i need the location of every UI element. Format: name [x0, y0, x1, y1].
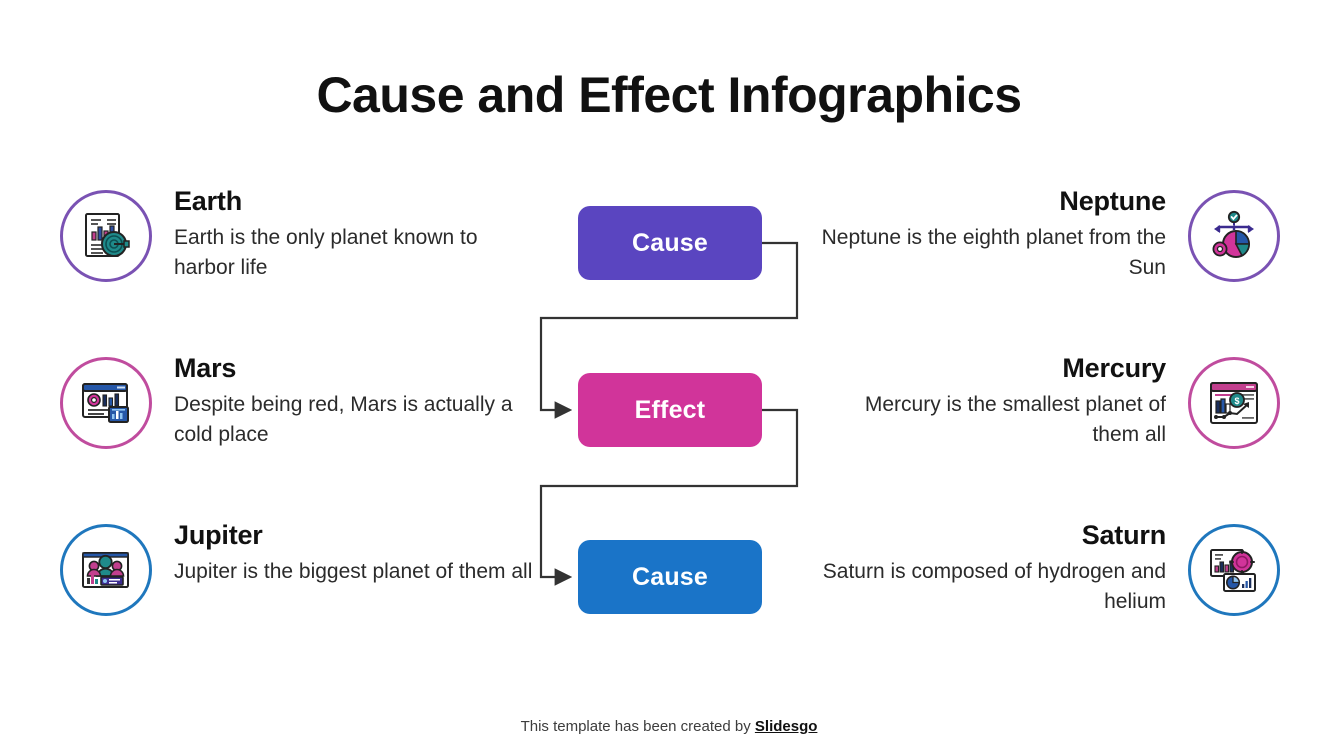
planet-description: Neptune is the eighth planet from the Su…: [820, 223, 1166, 283]
planet-description: Saturn is composed of hydrogen and heliu…: [820, 557, 1166, 617]
cause-effect-flow: Cause Effect Cause: [520, 190, 820, 630]
footer-credit: This template has been created by Slides…: [0, 718, 1338, 735]
slide-canvas: Cause and Effect Infographics: [0, 0, 1338, 753]
entry-mercury: $ Mercury Mercury is the smallest planet…: [820, 353, 1280, 450]
planet-description: Jupiter is the biggest planet of them al…: [174, 557, 540, 587]
flow-box-cause-bottom[interactable]: Cause: [578, 540, 762, 614]
chart-target-pie-icon: [1188, 524, 1280, 616]
planet-name: Saturn: [820, 520, 1166, 551]
svg-text:$: $: [1234, 396, 1239, 406]
entry-text: Saturn Saturn is composed of hydrogen an…: [820, 520, 1188, 617]
entry-earth: Earth Earth is the only planet known to …: [60, 186, 540, 283]
flow-box-effect[interactable]: Effect: [578, 373, 762, 447]
planet-description: Earth is the only planet known to harbor…: [174, 223, 540, 283]
planet-name: Neptune: [820, 186, 1166, 217]
entry-text: Mercury Mercury is the smallest planet o…: [820, 353, 1188, 450]
entry-text: Mars Despite being red, Mars is actually…: [152, 353, 540, 450]
browser-gear-bars-icon: [60, 357, 152, 449]
planet-name: Mars: [174, 353, 540, 384]
planet-name: Mercury: [820, 353, 1166, 384]
entry-jupiter: Jupiter Jupiter is the biggest planet of…: [60, 520, 540, 616]
entry-text: Jupiter Jupiter is the biggest planet of…: [152, 520, 540, 587]
entry-saturn: Saturn Saturn is composed of hydrogen an…: [820, 520, 1280, 617]
browser-coin-trend-icon: $: [1188, 357, 1280, 449]
page-title: Cause and Effect Infographics: [0, 68, 1338, 123]
footer-text: This template has been created by: [521, 718, 755, 735]
planet-description: Despite being red, Mars is actually a co…: [174, 390, 540, 450]
planet-name: Earth: [174, 186, 540, 217]
planet-description: Mercury is the smallest planet of them a…: [820, 390, 1166, 450]
slidesgo-link[interactable]: Slidesgo: [755, 718, 818, 735]
team-presentation-icon: [60, 524, 152, 616]
flow-box-cause-top[interactable]: Cause: [578, 206, 762, 280]
entry-mars: Mars Despite being red, Mars is actually…: [60, 353, 540, 450]
pie-arrows-gear-icon: [1188, 190, 1280, 282]
planet-name: Jupiter: [174, 520, 540, 551]
entry-text: Neptune Neptune is the eighth planet fro…: [820, 186, 1188, 283]
entry-text: Earth Earth is the only planet known to …: [152, 186, 540, 283]
report-chart-target-icon: [60, 190, 152, 282]
entry-neptune: Neptune Neptune is the eighth planet fro…: [820, 186, 1280, 283]
